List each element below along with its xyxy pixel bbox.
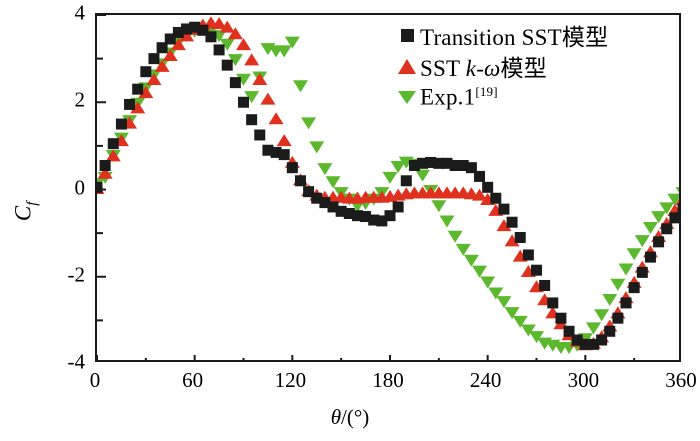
legend-label-sst-prefix: SST <box>420 56 466 81</box>
legend-label-sst-k-omega: SST k-ω模型 <box>420 49 547 83</box>
x-axis-title: θ/(°) <box>0 405 700 430</box>
x-tick-label: 240 <box>470 370 502 391</box>
square-marker-icon <box>394 29 420 42</box>
y-tick-label: 2 <box>37 90 85 111</box>
x-axis-unit: /(°) <box>341 405 369 429</box>
triangle-up-marker-icon <box>394 59 420 74</box>
x-tick-label: 180 <box>372 370 404 391</box>
y-axis-subscript: f <box>24 202 40 206</box>
x-tick-label: 300 <box>568 370 600 391</box>
legend-item-sst-k-omega: SST k-ω模型 <box>394 51 608 81</box>
x-tick-label: 120 <box>275 370 307 391</box>
y-tick-label: -4 <box>37 352 85 373</box>
legend-item-exp1: Exp.1[19] <box>394 82 608 112</box>
legend-label-transition-sst: Transition SST模型 <box>420 18 608 52</box>
x-tick-label: 0 <box>90 370 101 391</box>
y-tick-label: 0 <box>37 177 85 198</box>
legend-label-exp1-reference: [19] <box>475 84 497 99</box>
legend: Transition SST模型 SST k-ω模型 Exp.1[19] <box>390 16 614 114</box>
legend-label-exp1: Exp.1[19] <box>420 84 498 111</box>
y-tick-label: -2 <box>37 264 85 285</box>
legend-label-exp1-text: Exp.1 <box>420 84 475 109</box>
y-tick-label: 4 <box>37 3 85 24</box>
x-tick-label: 360 <box>665 370 697 391</box>
x-tick-label: 60 <box>182 370 203 391</box>
y-axis-title: Cf <box>11 191 42 231</box>
legend-label-sst-italic: k-ω <box>466 56 501 81</box>
x-axis-symbol: θ <box>331 405 341 429</box>
y-axis-symbol: C <box>11 206 36 221</box>
chart-figure: 060120180240300360 420-2-4 θ/(°) Cf Tran… <box>0 0 700 441</box>
triangle-down-marker-icon <box>394 91 420 104</box>
legend-label-sst-suffix: 模型 <box>501 56 547 81</box>
legend-item-transition-sst: Transition SST模型 <box>394 20 608 50</box>
